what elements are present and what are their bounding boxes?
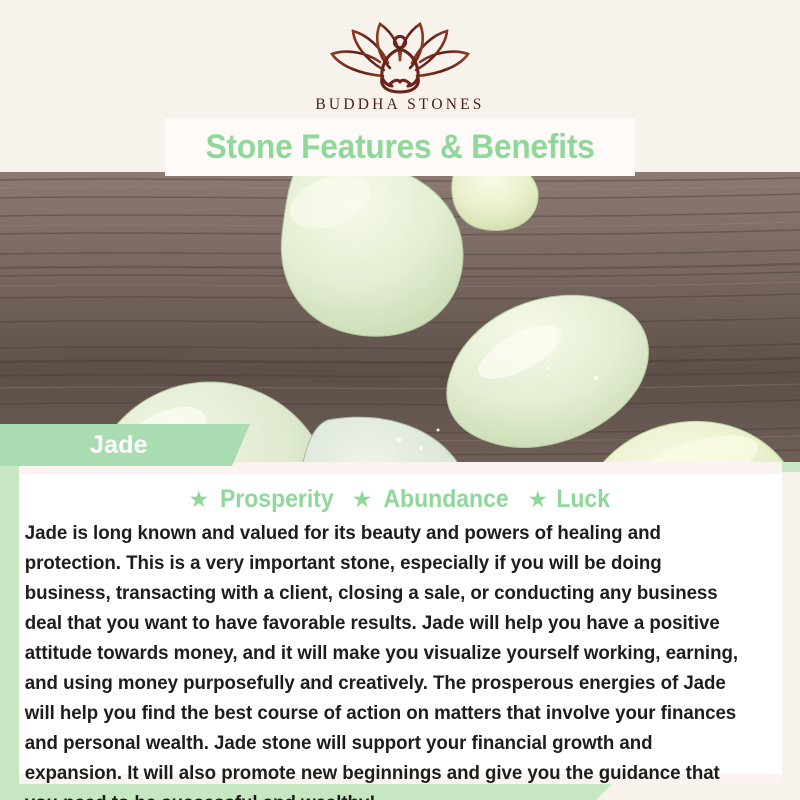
benefit-label: Abundance: [384, 485, 509, 514]
infographic-canvas: BUDDHA STONES Stone Features & Benefits: [0, 0, 800, 800]
benefit-item-prosperity: ★ Prosperity: [188, 485, 338, 514]
star-icon: ★: [188, 488, 209, 511]
content-inner: ★ Prosperity ★ Abundance ★ Luck Jade is …: [19, 474, 782, 774]
logo-block: BUDDHA STONES: [0, 16, 800, 114]
benefit-label: Luck: [556, 485, 610, 514]
stone-photo: [0, 172, 800, 462]
stone-name-label: Jade: [90, 431, 148, 460]
stone-photo-image: [0, 172, 800, 462]
benefits-row: ★ Prosperity ★ Abundance ★ Luck: [19, 482, 782, 516]
content-panel: ★ Prosperity ★ Abundance ★ Luck Jade is …: [19, 462, 782, 784]
page-title: Stone Features & Benefits: [206, 128, 595, 167]
stone-name-banner: Jade: [0, 424, 250, 466]
description-text: Jade is long known and valued for its be…: [19, 518, 755, 800]
star-icon: ★: [528, 488, 549, 511]
title-band: Stone Features & Benefits: [165, 118, 635, 176]
brand-name: BUDDHA STONES: [0, 96, 800, 114]
benefit-label: Prosperity: [220, 485, 334, 514]
benefit-item-abundance: ★ Abundance: [352, 485, 515, 514]
benefit-item-luck: ★ Luck: [528, 485, 613, 514]
lotus-meditation-icon: [320, 16, 480, 94]
star-icon: ★: [352, 488, 373, 511]
